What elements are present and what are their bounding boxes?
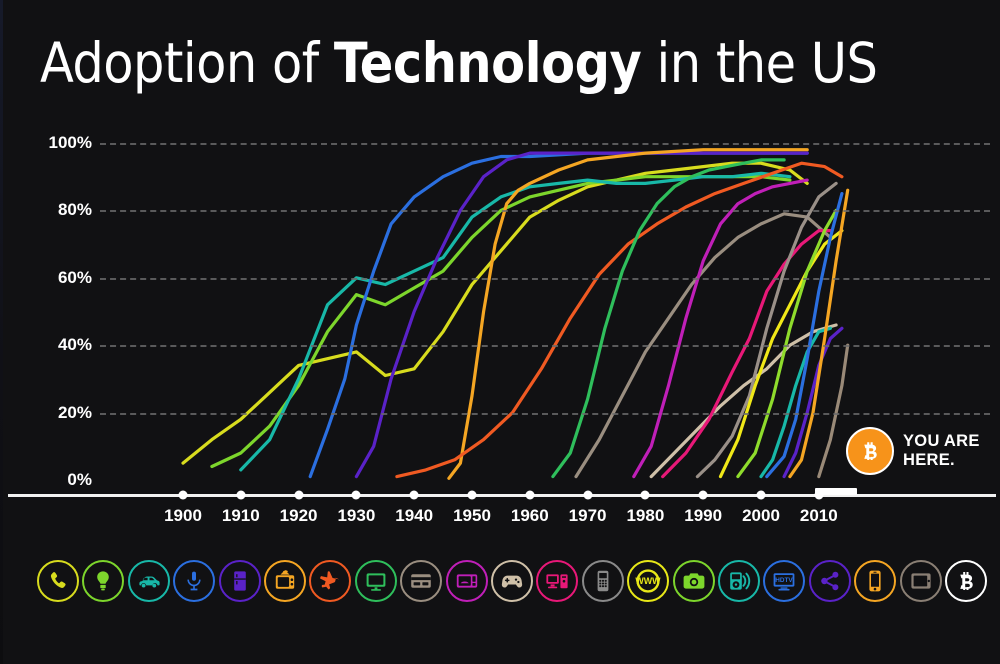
gridline-40% <box>100 345 990 347</box>
legend-hdtv-icon[interactable]: HDTV <box>763 560 805 602</box>
technology-icon-legend: WWWHDTV <box>0 548 1000 628</box>
x-tick-dot <box>583 491 592 500</box>
legend-digital-camera-icon[interactable] <box>673 560 715 602</box>
page-title: Adoption of Technology in the US <box>40 32 990 94</box>
y-tick-label: 40% <box>22 335 92 355</box>
legend-telephone-icon[interactable] <box>37 560 79 602</box>
you-are-here-callout: YOU ARE HERE. <box>846 427 980 475</box>
series-line <box>241 173 790 470</box>
legend-internet-icon[interactable]: WWW <box>627 560 669 602</box>
x-tick-label: 1910 <box>222 506 260 526</box>
svg-text:WWW: WWW <box>636 576 662 586</box>
x-tick-label: 2000 <box>742 506 780 526</box>
x-tick-label: 1980 <box>626 506 664 526</box>
legend-social-media-icon[interactable] <box>809 560 851 602</box>
computer-icon <box>545 569 569 593</box>
legend-microwave-icon[interactable] <box>446 560 488 602</box>
airplane-icon <box>318 569 342 593</box>
microwave-icon <box>455 569 479 593</box>
current-year-marker <box>815 488 857 495</box>
legend-bitcoin-icon[interactable] <box>945 560 987 602</box>
mp3-player-icon <box>727 569 751 593</box>
credit-card-icon <box>409 569 433 593</box>
x-tick-dot <box>641 491 650 500</box>
x-tick-dot <box>179 491 188 500</box>
x-tick-dot <box>294 491 303 500</box>
lightbulb-icon <box>91 569 115 593</box>
x-tick-dot <box>757 491 766 500</box>
title-part2: in the US <box>641 31 877 95</box>
series-line <box>449 150 807 479</box>
callout-line-1: YOU ARE <box>903 432 980 451</box>
game-console-icon <box>500 569 524 593</box>
gridline-80% <box>100 210 990 212</box>
x-tick-dot <box>410 491 419 500</box>
cell-phone-icon <box>591 569 615 593</box>
bitcoin-icon <box>953 568 979 594</box>
y-tick-label: 0% <box>22 470 92 490</box>
infographic-root: Adoption of Technology in the US 0%20%40… <box>0 0 1000 664</box>
legend-radio-icon[interactable] <box>173 560 215 602</box>
x-tick-label: 1970 <box>569 506 607 526</box>
color-tv-icon <box>364 569 388 593</box>
x-tick-dot <box>468 491 477 500</box>
x-tick-label: 1900 <box>164 506 202 526</box>
callout-line-2: HERE. <box>903 451 980 470</box>
y-tick-label: 20% <box>22 403 92 423</box>
gridline-100% <box>100 143 990 145</box>
adoption-line-chart: 0%20%40%60%80%100% 190019101920193019401… <box>0 100 1000 520</box>
tablet-icon <box>909 569 933 593</box>
legend-airplane-icon[interactable] <box>309 560 351 602</box>
refrigerator-icon <box>228 569 252 593</box>
legend-mp3-player-icon[interactable] <box>718 560 760 602</box>
you-are-here-label: YOU ARE HERE. <box>903 432 980 470</box>
x-tick-label: 2010 <box>800 506 838 526</box>
legend-tablet-icon[interactable] <box>900 560 942 602</box>
legend-game-console-icon[interactable] <box>491 560 533 602</box>
x-tick-dot <box>236 491 245 500</box>
car-icon <box>137 569 161 593</box>
x-tick-label: 1960 <box>511 506 549 526</box>
x-tick-dot <box>352 491 361 500</box>
x-tick-label: 1950 <box>453 506 491 526</box>
x-tick-label: 1920 <box>280 506 318 526</box>
legend-computer-icon[interactable] <box>536 560 578 602</box>
gridline-20% <box>100 413 990 415</box>
x-tick-label: 1990 <box>684 506 722 526</box>
legend-television-icon[interactable] <box>264 560 306 602</box>
legend-color-tv-icon[interactable] <box>355 560 397 602</box>
internet-icon: WWW <box>635 568 661 594</box>
social-media-icon <box>818 569 842 593</box>
radio-icon <box>182 569 206 593</box>
svg-text:HDTV: HDTV <box>776 577 794 584</box>
legend-smartphone-icon[interactable] <box>854 560 896 602</box>
y-tick-label: 60% <box>22 268 92 288</box>
telephone-icon <box>46 569 70 593</box>
legend-cell-phone-icon[interactable] <box>582 560 624 602</box>
legend-car-icon[interactable] <box>128 560 170 602</box>
title-part1: Adoption of <box>40 31 334 95</box>
series-line <box>819 345 848 476</box>
digital-camera-icon <box>682 569 706 593</box>
x-tick-label: 1930 <box>337 506 375 526</box>
hdtv-icon: HDTV <box>772 569 796 593</box>
smartphone-icon <box>863 569 887 593</box>
x-tick-label: 1940 <box>395 506 433 526</box>
title-emphasis: Technology <box>334 31 641 95</box>
legend-credit-card-icon[interactable] <box>400 560 442 602</box>
y-tick-label: 80% <box>22 200 92 220</box>
x-tick-dot <box>699 491 708 500</box>
x-tick-dot <box>525 491 534 500</box>
bitcoin-icon <box>846 427 894 475</box>
television-icon <box>273 569 297 593</box>
gridline-60% <box>100 278 990 280</box>
legend-refrigerator-icon[interactable] <box>219 560 261 602</box>
legend-lightbulb-icon[interactable] <box>82 560 124 602</box>
y-tick-label: 100% <box>22 133 92 153</box>
